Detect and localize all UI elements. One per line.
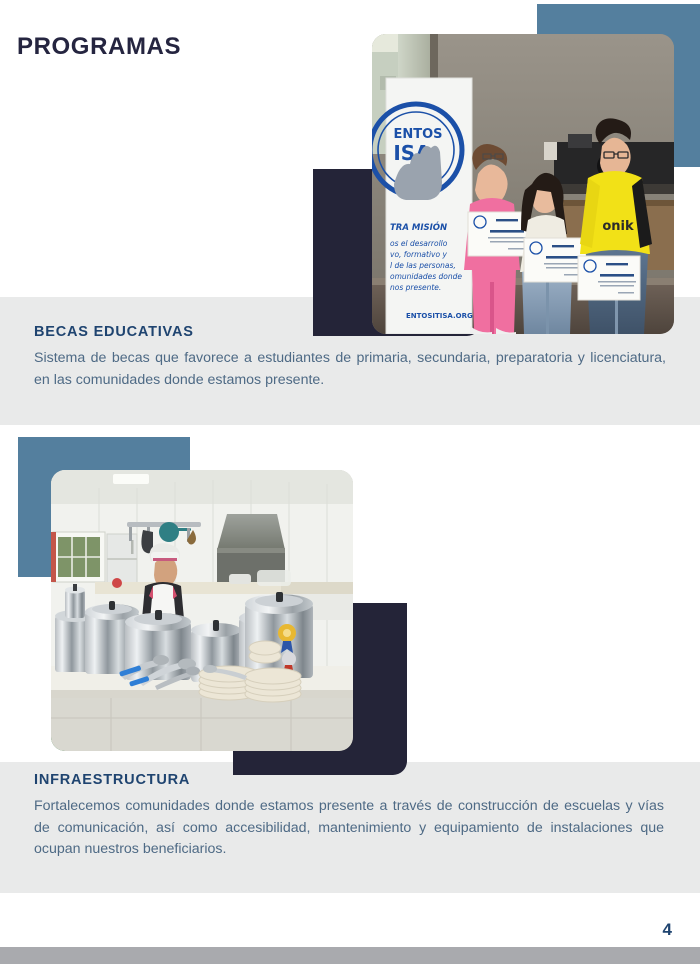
photo-becas-students-certificates: ENTOS ISA A.C. TRA MISIÓN os el desarrol… [372, 34, 674, 334]
footer-bar [0, 947, 700, 964]
svg-text:omunidades donde: omunidades donde [390, 272, 462, 281]
document-page: PROGRAMAS [0, 0, 700, 964]
section-heading-becas: BECAS EDUCATIVAS [34, 324, 670, 340]
page-title: PROGRAMAS [17, 33, 181, 61]
section-body-infraestructura: Fortalecemos comunidades donde estamos p… [34, 796, 664, 861]
svg-text:l de las personas,: l de las personas, [390, 261, 456, 270]
svg-text:vo, formativo y: vo, formativo y [390, 250, 447, 259]
svg-text:os el desarrollo: os el desarrollo [390, 239, 448, 248]
svg-text:ENTOS: ENTOS [393, 127, 442, 142]
photo-infraestructura-school-kitchen [51, 470, 353, 751]
section-heading-infraestructura: INFRAESTRUCTURA [34, 772, 670, 788]
section-body-becas: Sistema de becas que favorece a estudian… [34, 348, 666, 391]
svg-text:ENTOSITISA.ORG: ENTOSITISA.ORG [406, 312, 473, 320]
page-number: 4 [663, 920, 672, 940]
svg-text:onik: onik [602, 219, 634, 234]
section-becas-educativas: BECAS EDUCATIVAS Sistema de becas que fa… [34, 324, 670, 391]
svg-text:nos presente.: nos presente. [390, 283, 441, 292]
svg-text:TRA MISIÓN: TRA MISIÓN [390, 221, 447, 233]
section-infraestructura: INFRAESTRUCTURA Fortalecemos comunidades… [34, 772, 670, 861]
